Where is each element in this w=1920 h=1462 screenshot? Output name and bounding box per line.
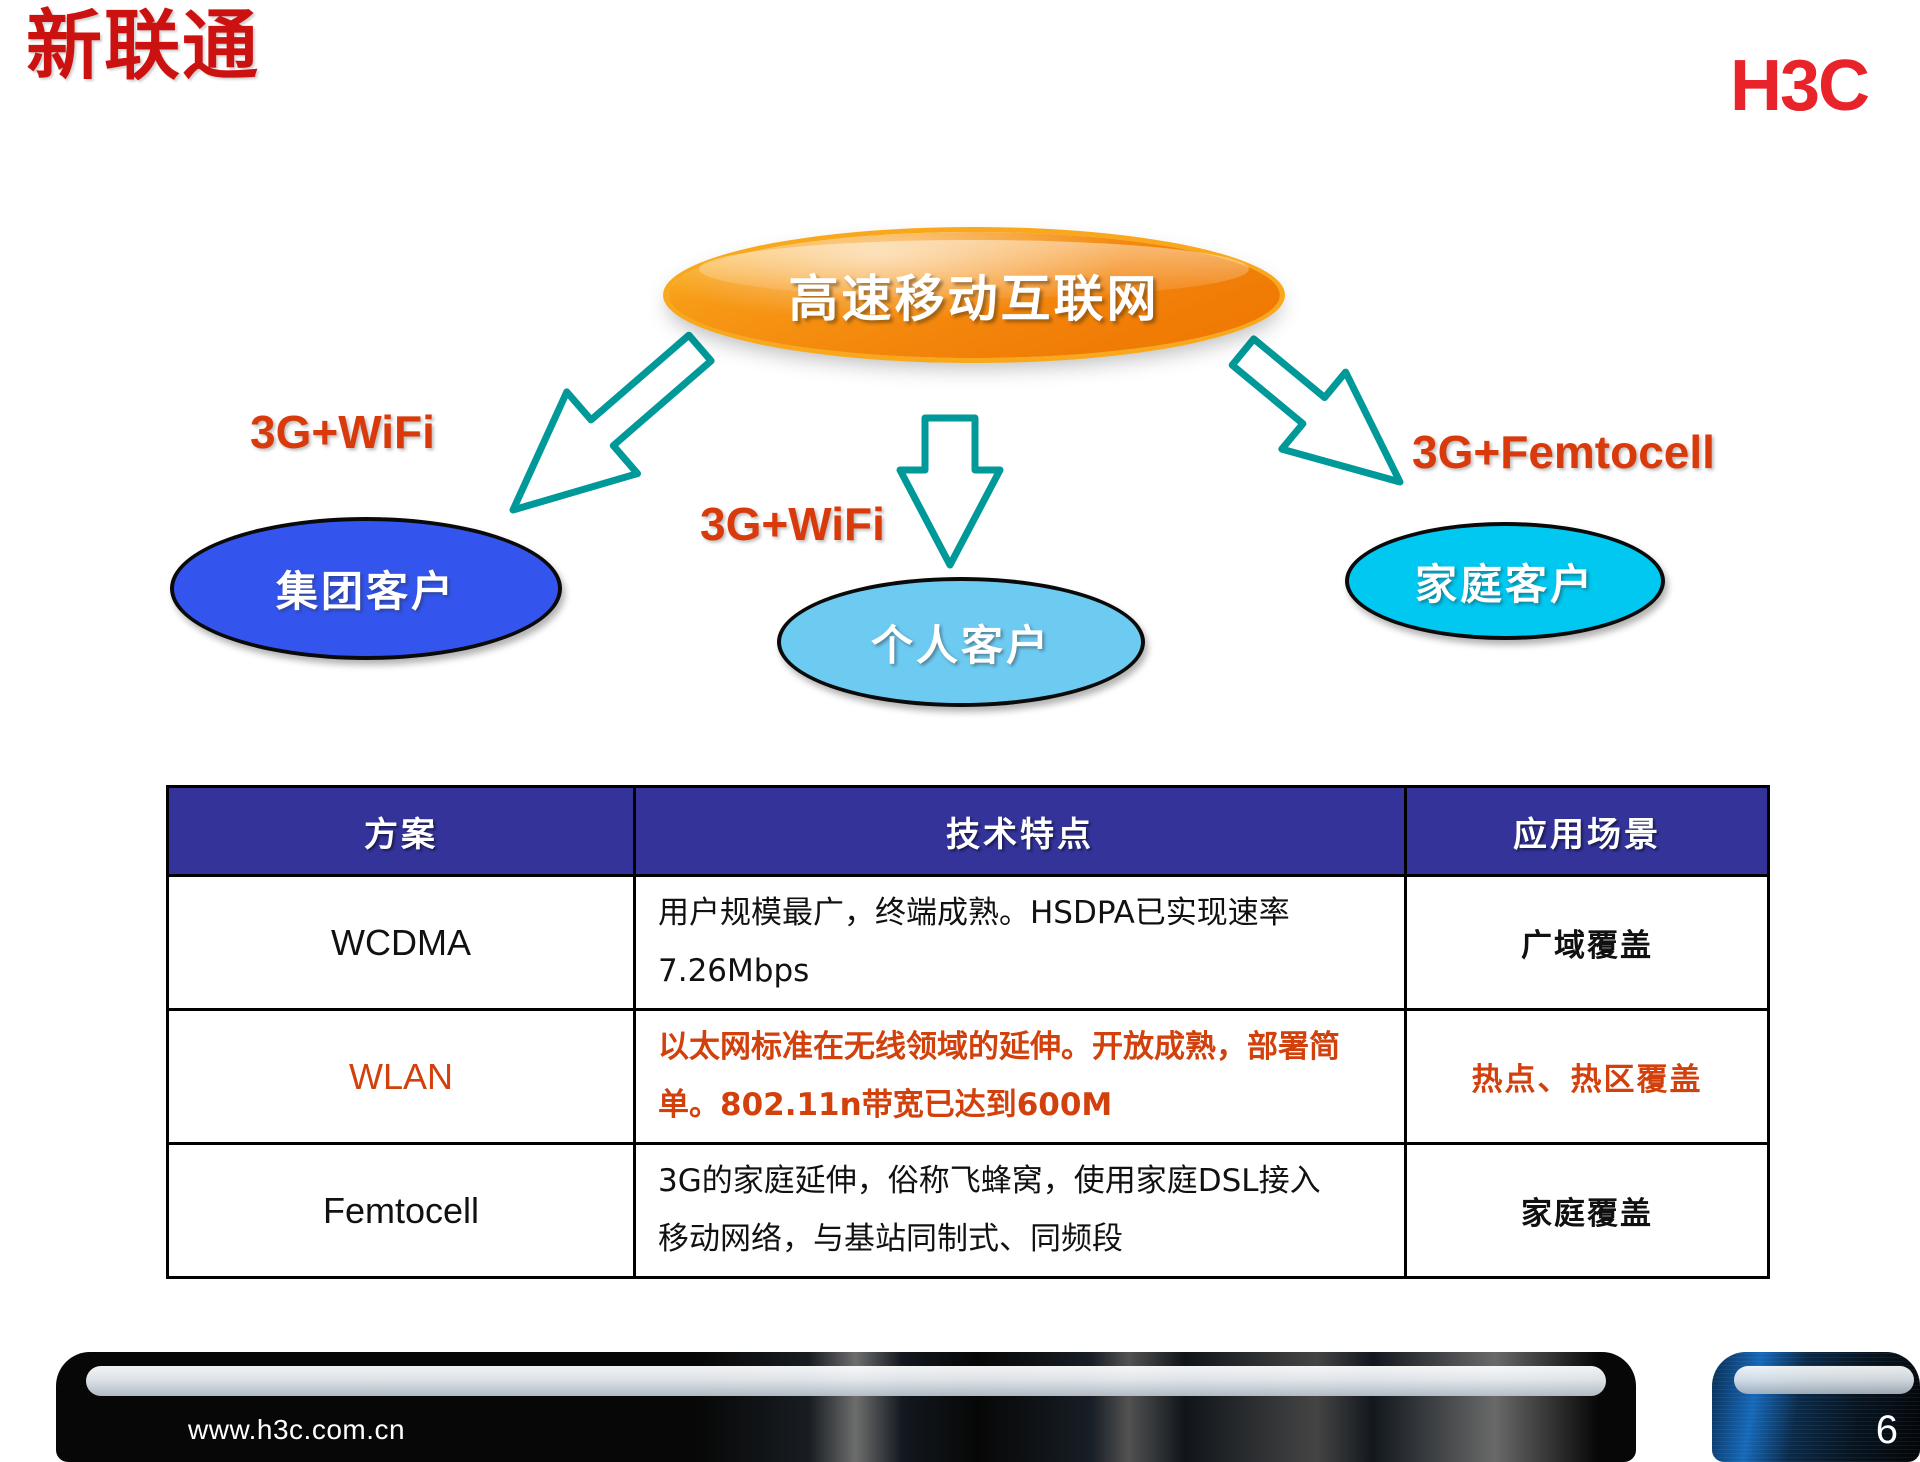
page-number: 6 [1876, 1408, 1898, 1453]
cell-scenario: 家庭覆盖 [1406, 1144, 1769, 1278]
table-row: Femtocell 3G的家庭延伸，俗称飞蜂窝，使用家庭DSL接入 移动网络，与… [168, 1144, 1769, 1278]
cell-features-line1: 以太网标准在无线领域的延伸。开放成熟，部署简 [658, 1019, 1386, 1076]
cell-features-line2: 移动网络，与基站同制式、同频段 [658, 1211, 1386, 1268]
node-enterprise-customer[interactable]: 集团客户 [170, 517, 562, 660]
footer-bar: www.h3c.com.cn [56, 1352, 1636, 1462]
cell-features: 3G的家庭延伸，俗称飞蜂窝，使用家庭DSL接入 移动网络，与基站同制式、同频段 [635, 1144, 1406, 1278]
technology-comparison-table: 方案 技术特点 应用场景 WCDMA 用户规模最广，终端成熟。HSDPA已实现速… [166, 785, 1770, 1279]
table-row: WLAN 以太网标准在无线领域的延伸。开放成熟，部署简 单。802.11n带宽已… [168, 1010, 1769, 1144]
cell-features: 用户规模最广，终端成熟。HSDPA已实现速率 7.26Mbps [635, 876, 1406, 1010]
footer-gloss-highlight [86, 1366, 1606, 1396]
table-row: WCDMA 用户规模最广，终端成熟。HSDPA已实现速率 7.26Mbps 广域… [168, 876, 1769, 1010]
column-header-scenario: 应用场景 [1406, 787, 1769, 876]
edge-label-right: 3G+Femtocell [1412, 425, 1715, 479]
footer-url[interactable]: www.h3c.com.cn [188, 1414, 405, 1446]
node-enterprise-customer-label: 集团客户 [276, 558, 456, 619]
diagram-container: 高速移动互联网 3G+WiFi 3G+WiFi 3G+Femtocell 集团客… [0, 0, 1920, 780]
page-badge-gloss-highlight [1734, 1366, 1914, 1394]
column-header-features: 技术特点 [635, 787, 1406, 876]
column-header-solution: 方案 [168, 787, 635, 876]
cell-features: 以太网标准在无线领域的延伸。开放成熟，部署简 单。802.11n带宽已达到600… [635, 1010, 1406, 1144]
cell-features-line1: 用户规模最广，终端成熟。HSDPA已实现速率 [658, 885, 1386, 942]
edge-label-middle: 3G+WiFi [700, 497, 885, 551]
cell-solution-name: WLAN [168, 1010, 635, 1144]
node-home-customer-label: 家庭客户 [1415, 551, 1595, 612]
cell-features-line2: 单。802.11n带宽已达到600M [658, 1077, 1386, 1134]
edge-label-left: 3G+WiFi [250, 405, 435, 459]
cell-scenario: 热点、热区覆盖 [1406, 1010, 1769, 1144]
cell-features-line1: 3G的家庭延伸，俗称飞蜂窝，使用家庭DSL接入 [658, 1153, 1386, 1210]
table-header-row: 方案 技术特点 应用场景 [168, 787, 1769, 876]
node-home-customer[interactable]: 家庭客户 [1345, 522, 1665, 640]
node-root-label: 高速移动互联网 [789, 259, 1160, 331]
cell-scenario: 广域覆盖 [1406, 876, 1769, 1010]
node-root[interactable]: 高速移动互联网 [668, 232, 1280, 358]
node-personal-customer[interactable]: 个人客户 [777, 577, 1145, 707]
cell-solution-name: Femtocell [168, 1144, 635, 1278]
page-number-badge: 6 [1712, 1352, 1920, 1462]
node-personal-customer-label: 个人客户 [871, 612, 1051, 673]
cell-solution-name: WCDMA [168, 876, 635, 1010]
cell-features-line2: 7.26Mbps [658, 943, 1386, 1000]
